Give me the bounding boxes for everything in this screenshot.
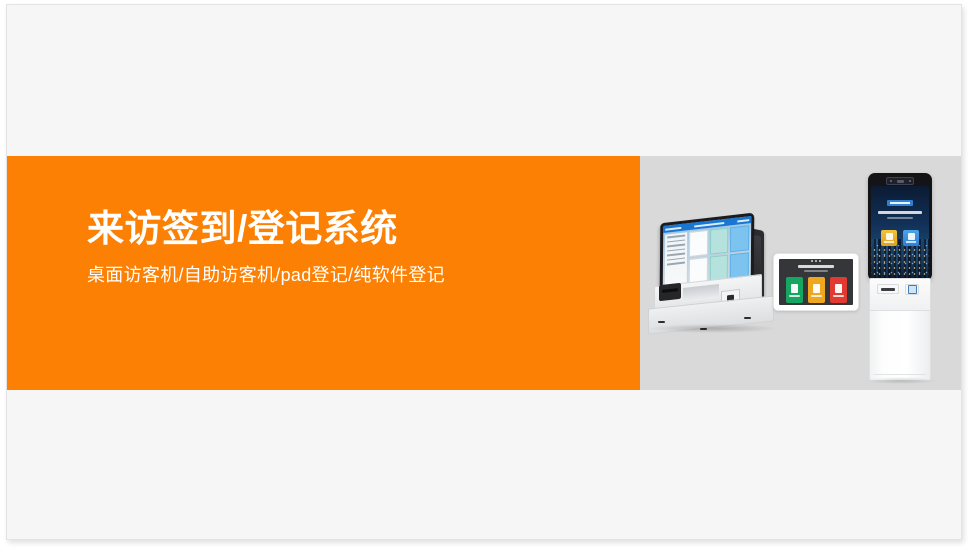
tablet-title-line — [798, 265, 835, 268]
page-title: 来访签到/登记系统 — [87, 208, 607, 249]
terminal-foot — [744, 317, 751, 319]
tablet-frame — [773, 253, 859, 311]
card-reader-icon — [877, 284, 899, 294]
cityscape-lights — [871, 245, 929, 278]
phone-icon — [786, 277, 803, 303]
kiosk-action-tiles — [871, 230, 929, 246]
kiosk-head — [868, 173, 932, 281]
terminal-ui-card — [730, 225, 749, 252]
title-block: 来访签到/登记系统 桌面访客机/自助访客机/pad登记/纯软件登记 — [87, 208, 607, 287]
terminal-shadow — [650, 324, 776, 333]
kiosk-screen — [871, 186, 929, 278]
slide-canvas: 来访签到/登记系统 桌面访客机/自助访客机/pad登记/纯软件登记 — [6, 4, 962, 540]
qr-code-icon — [830, 277, 847, 303]
qr-scanner-icon — [905, 284, 919, 295]
sidebar-row — [667, 234, 685, 238]
kiosk-brand-badge — [887, 200, 913, 206]
sidebar-row — [667, 257, 685, 261]
id-card-icon — [808, 277, 825, 303]
tablet-header-text — [783, 265, 849, 272]
page-subtitle: 桌面访客机/自助访客机/pad登记/纯软件登记 — [87, 265, 607, 287]
tablet-indicator-dots — [811, 260, 821, 262]
tablet-registration-device — [773, 253, 859, 311]
topbar-brand — [665, 226, 681, 230]
kiosk-headline-line — [878, 211, 922, 214]
sidebar-row — [667, 248, 685, 252]
hero-banner: 来访签到/登记系统 桌面访客机/自助访客机/pad登记/纯软件登记 — [6, 156, 962, 390]
visitor-register-icon — [881, 230, 897, 246]
topbar-status-icons — [737, 219, 749, 222]
kiosk-shadow — [866, 377, 936, 384]
kiosk-subline-line — [887, 217, 914, 219]
tablet-action-tiles — [783, 277, 849, 303]
camera-sensor-icon — [886, 177, 914, 185]
terminal-ui-card — [689, 230, 708, 257]
tablet-screen — [779, 259, 853, 305]
kiosk-peripheral-panel — [869, 278, 931, 311]
terminal-foot — [658, 321, 665, 323]
sidebar-row — [667, 262, 685, 266]
desktop-visitor-terminal — [648, 218, 780, 343]
sidebar-row — [667, 243, 685, 247]
self-service-kiosk — [868, 173, 934, 381]
kiosk-pedestal — [869, 310, 931, 381]
sidebar-row — [667, 253, 685, 257]
terminal-ui-card — [710, 228, 729, 255]
sidebar-row — [667, 239, 685, 243]
appointment-icon — [903, 230, 919, 246]
tablet-subtitle-line — [804, 270, 828, 272]
product-showcase-panel — [640, 156, 962, 390]
banner-text-panel: 来访签到/登记系统 桌面访客机/自助访客机/pad登记/纯软件登记 — [6, 156, 640, 390]
terminal-ui-sidebar — [665, 232, 687, 287]
printer-slot-icon — [659, 283, 681, 302]
